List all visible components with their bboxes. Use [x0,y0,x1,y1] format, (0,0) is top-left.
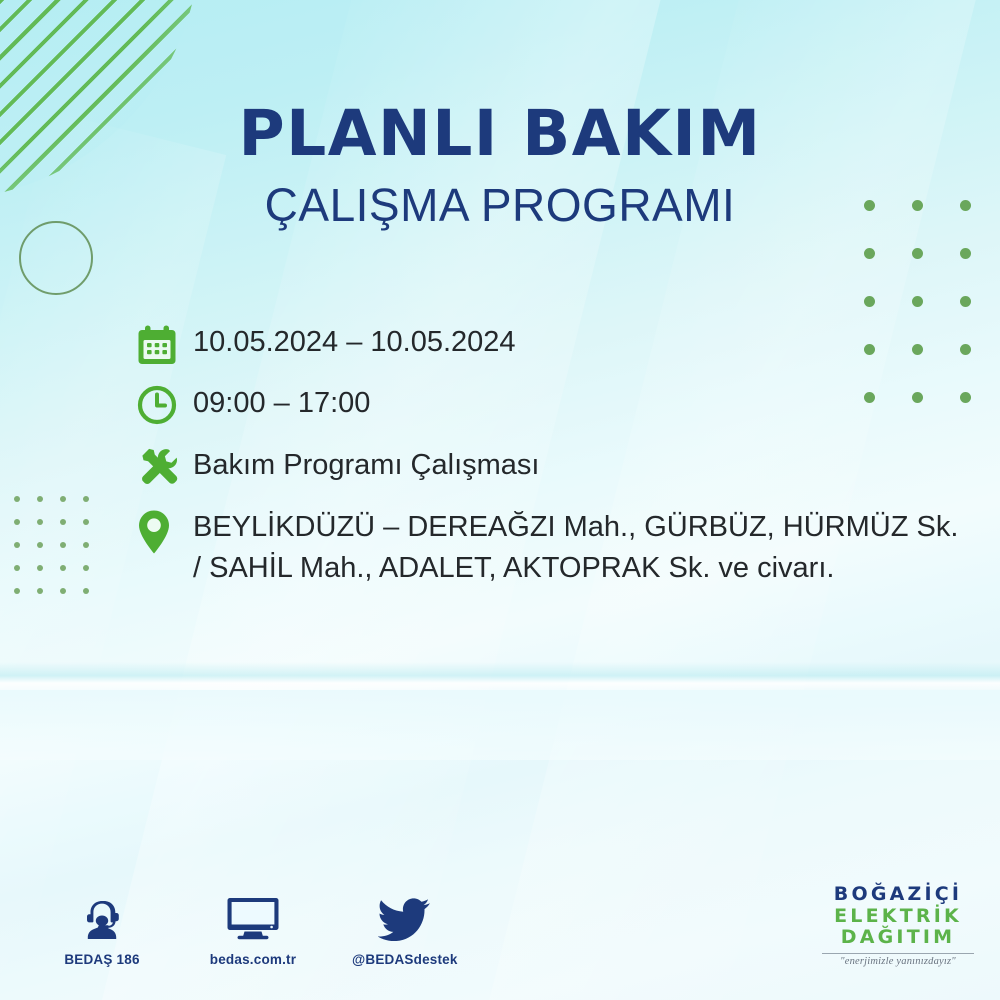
tools-icon [137,445,193,487]
calendar-icon [137,322,193,366]
decorative-dot [60,565,66,571]
twitter-bird-icon [352,893,456,945]
detail-row-work-type: Bakım Programı Çalışması [137,445,967,487]
page-title: PLANLI BAKIM [0,97,1000,170]
decorative-dot [960,296,971,307]
contact-website[interactable]: bedas.com.tr [201,893,305,967]
decorative-dot [864,296,875,307]
decorative-dot [60,588,66,594]
circle-outline-decoration [19,221,93,295]
page-subtitle: ÇALIŞMA PROGRAMI [0,178,1000,232]
decorative-dot [14,542,20,548]
logo-line-bogazici: BOĞAZİÇİ [814,884,982,906]
decorative-dot [14,519,20,525]
decorative-dot [14,496,20,502]
address-text: BEYLİKDÜZÜ – DEREAĞZI Mah., GÜRBÜZ, HÜRM… [193,507,967,589]
decorative-dot [37,496,43,502]
horizontal-divider-glow [0,690,1000,760]
maintenance-details: 10.05.2024 – 10.05.2024 09:00 – 17:00 [137,322,967,609]
location-pin-icon [137,507,193,555]
decorative-dot [83,496,89,502]
decorative-dot [37,565,43,571]
call-center-agent-icon [50,893,154,945]
decorative-dot [60,542,66,548]
monitor-icon [201,893,305,945]
decorative-dot [37,519,43,525]
date-range-text: 10.05.2024 – 10.05.2024 [193,322,516,363]
planned-maintenance-poster: PLANLI BAKIM ÇALIŞMA PROGRAMI [0,0,1000,1000]
decorative-dot [14,588,20,594]
detail-row-address: BEYLİKDÜZÜ – DEREAĞZI Mah., GÜRBÜZ, HÜRM… [137,507,967,589]
decorative-dot [83,519,89,525]
work-type-text: Bakım Programı Çalışması [193,445,539,486]
decorative-dot [37,542,43,548]
contact-twitter-label: @BEDASdestek [352,952,456,967]
bedas-logo: BOĞAZİÇİ ELEKTRİK DAĞITIM "enerjimizle y… [814,884,982,967]
logo-line-elektrik: ELEKTRİK [814,906,982,928]
decorative-dot [37,588,43,594]
decorative-dot [83,565,89,571]
decorative-dot [83,588,89,594]
decorative-dot [912,248,923,259]
horizontal-divider [0,662,1000,696]
detail-row-time: 09:00 – 17:00 [137,383,967,425]
logo-line-dagitim: DAĞITIM [814,927,982,949]
decorative-dot [960,248,971,259]
decorative-dot [83,542,89,548]
footer-contacts: BEDAŞ 186 bedas.com.tr [50,893,456,967]
decorative-dot [864,248,875,259]
logo-divider [822,953,974,954]
decorative-dot [14,565,20,571]
detail-row-date: 10.05.2024 – 10.05.2024 [137,322,967,366]
contact-twitter[interactable]: @BEDASdestek [352,893,456,967]
decorative-dot [60,519,66,525]
decorative-dot [60,496,66,502]
decorative-dot [912,296,923,307]
contact-phone[interactable]: BEDAŞ 186 [50,893,154,967]
contact-website-label: bedas.com.tr [201,952,305,967]
time-range-text: 09:00 – 17:00 [193,383,370,424]
contact-phone-label: BEDAŞ 186 [50,952,154,967]
dot-grid-left-decoration [14,496,106,611]
logo-tagline: "enerjimizle yanınızdayız" [814,956,982,967]
clock-icon [137,383,193,425]
address-line-1: BEYLİKDÜZÜ – DEREAĞZI Mah., GÜRBÜZ, HÜRM… [193,511,908,543]
